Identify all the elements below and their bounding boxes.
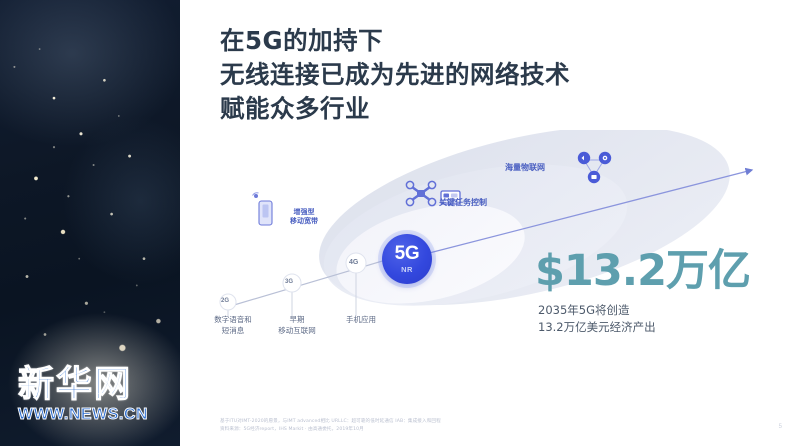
headline-figure-caption-line2: 13.2万亿美元经济产出 [538, 319, 656, 336]
smartphone-icon [253, 193, 273, 225]
generation-label-2g: 数字语音和 短消息 [200, 315, 266, 337]
five-g-evolution-diagram: 5G NR 2G 3G 4G 数字语音和 短消息 早期 移动互联网 手机应用 增… [180, 130, 800, 370]
xinhua-logo-url: WWW.NEWS.CN [18, 406, 148, 424]
generation-label-3g-line1: 早期 [264, 315, 330, 326]
xinhua-logo-text: 新华网 [18, 367, 148, 403]
slide-content: 在5G的加持下 无线连接已成为先进的网络技术 赋能众多行业 [180, 0, 800, 446]
five-g-node-main-label: 5G [395, 244, 420, 263]
page-title-line-1: 在5G的加持下 [220, 24, 740, 58]
generation-chip-4g: 4G [349, 259, 358, 266]
page-title-line-2: 无线连接已成为先进的网络技术 [220, 58, 740, 92]
headline-figure-caption-line1: 2035年5G将创造 [538, 302, 656, 319]
generation-chip-3g: 3G [285, 279, 293, 285]
slide-canvas: 新华网 WWW.NEWS.CN 在5G的加持下 无线连接已成为先进的网络技术 赋… [0, 0, 800, 446]
source-footnote-line2: 资料来源：5G经济report，IHS Markit · 由高通委托，2019年… [220, 426, 650, 434]
page-title-line-3: 赋能众多行业 [220, 92, 740, 126]
five-g-node[interactable]: 5G NR [382, 234, 432, 284]
generation-label-3g-line2: 移动互联网 [264, 326, 330, 337]
headline-figure: $13.2万亿 [535, 250, 750, 293]
use-case-label-embb-line2: 移动宽带 [282, 217, 326, 226]
use-case-label-massive-iot: 海量物联网 [505, 163, 545, 173]
use-case-label-embb-line1: 增强型 [282, 208, 326, 217]
use-case-label-embb: 增强型 移动宽带 [282, 208, 326, 226]
generation-label-2g-line1: 数字语音和 [200, 315, 266, 326]
xinhua-logo[interactable]: 新华网 WWW.NEWS.CN [18, 367, 148, 424]
use-case-label-mission-critical: 关键任务控制 [439, 198, 487, 208]
page-number: 5 [779, 424, 782, 430]
headline-figure-caption: 2035年5G将创造 13.2万亿美元经济产出 [538, 302, 656, 337]
generation-label-3g: 早期 移动互联网 [264, 315, 330, 337]
satellite-night-photo: 新华网 WWW.NEWS.CN [0, 0, 180, 446]
five-g-node-sub-label: NR [401, 266, 413, 274]
page-title: 在5G的加持下 无线连接已成为先进的网络技术 赋能众多行业 [220, 24, 740, 125]
source-footnote-line1: 基于ITU对IMT-2020的愿景，与IMT advanced相比 URLLC：… [220, 418, 650, 426]
generation-label-4g: 手机应用 [328, 315, 394, 326]
generation-label-4g-line1: 手机应用 [328, 315, 394, 326]
source-footnote: 基于ITU对IMT-2020的愿景，与IMT advanced相比 URLLC：… [220, 418, 650, 435]
capability-ellipses [302, 130, 746, 339]
generation-label-2g-line2: 短消息 [200, 326, 266, 337]
generation-chip-2g: 2G [221, 298, 229, 304]
